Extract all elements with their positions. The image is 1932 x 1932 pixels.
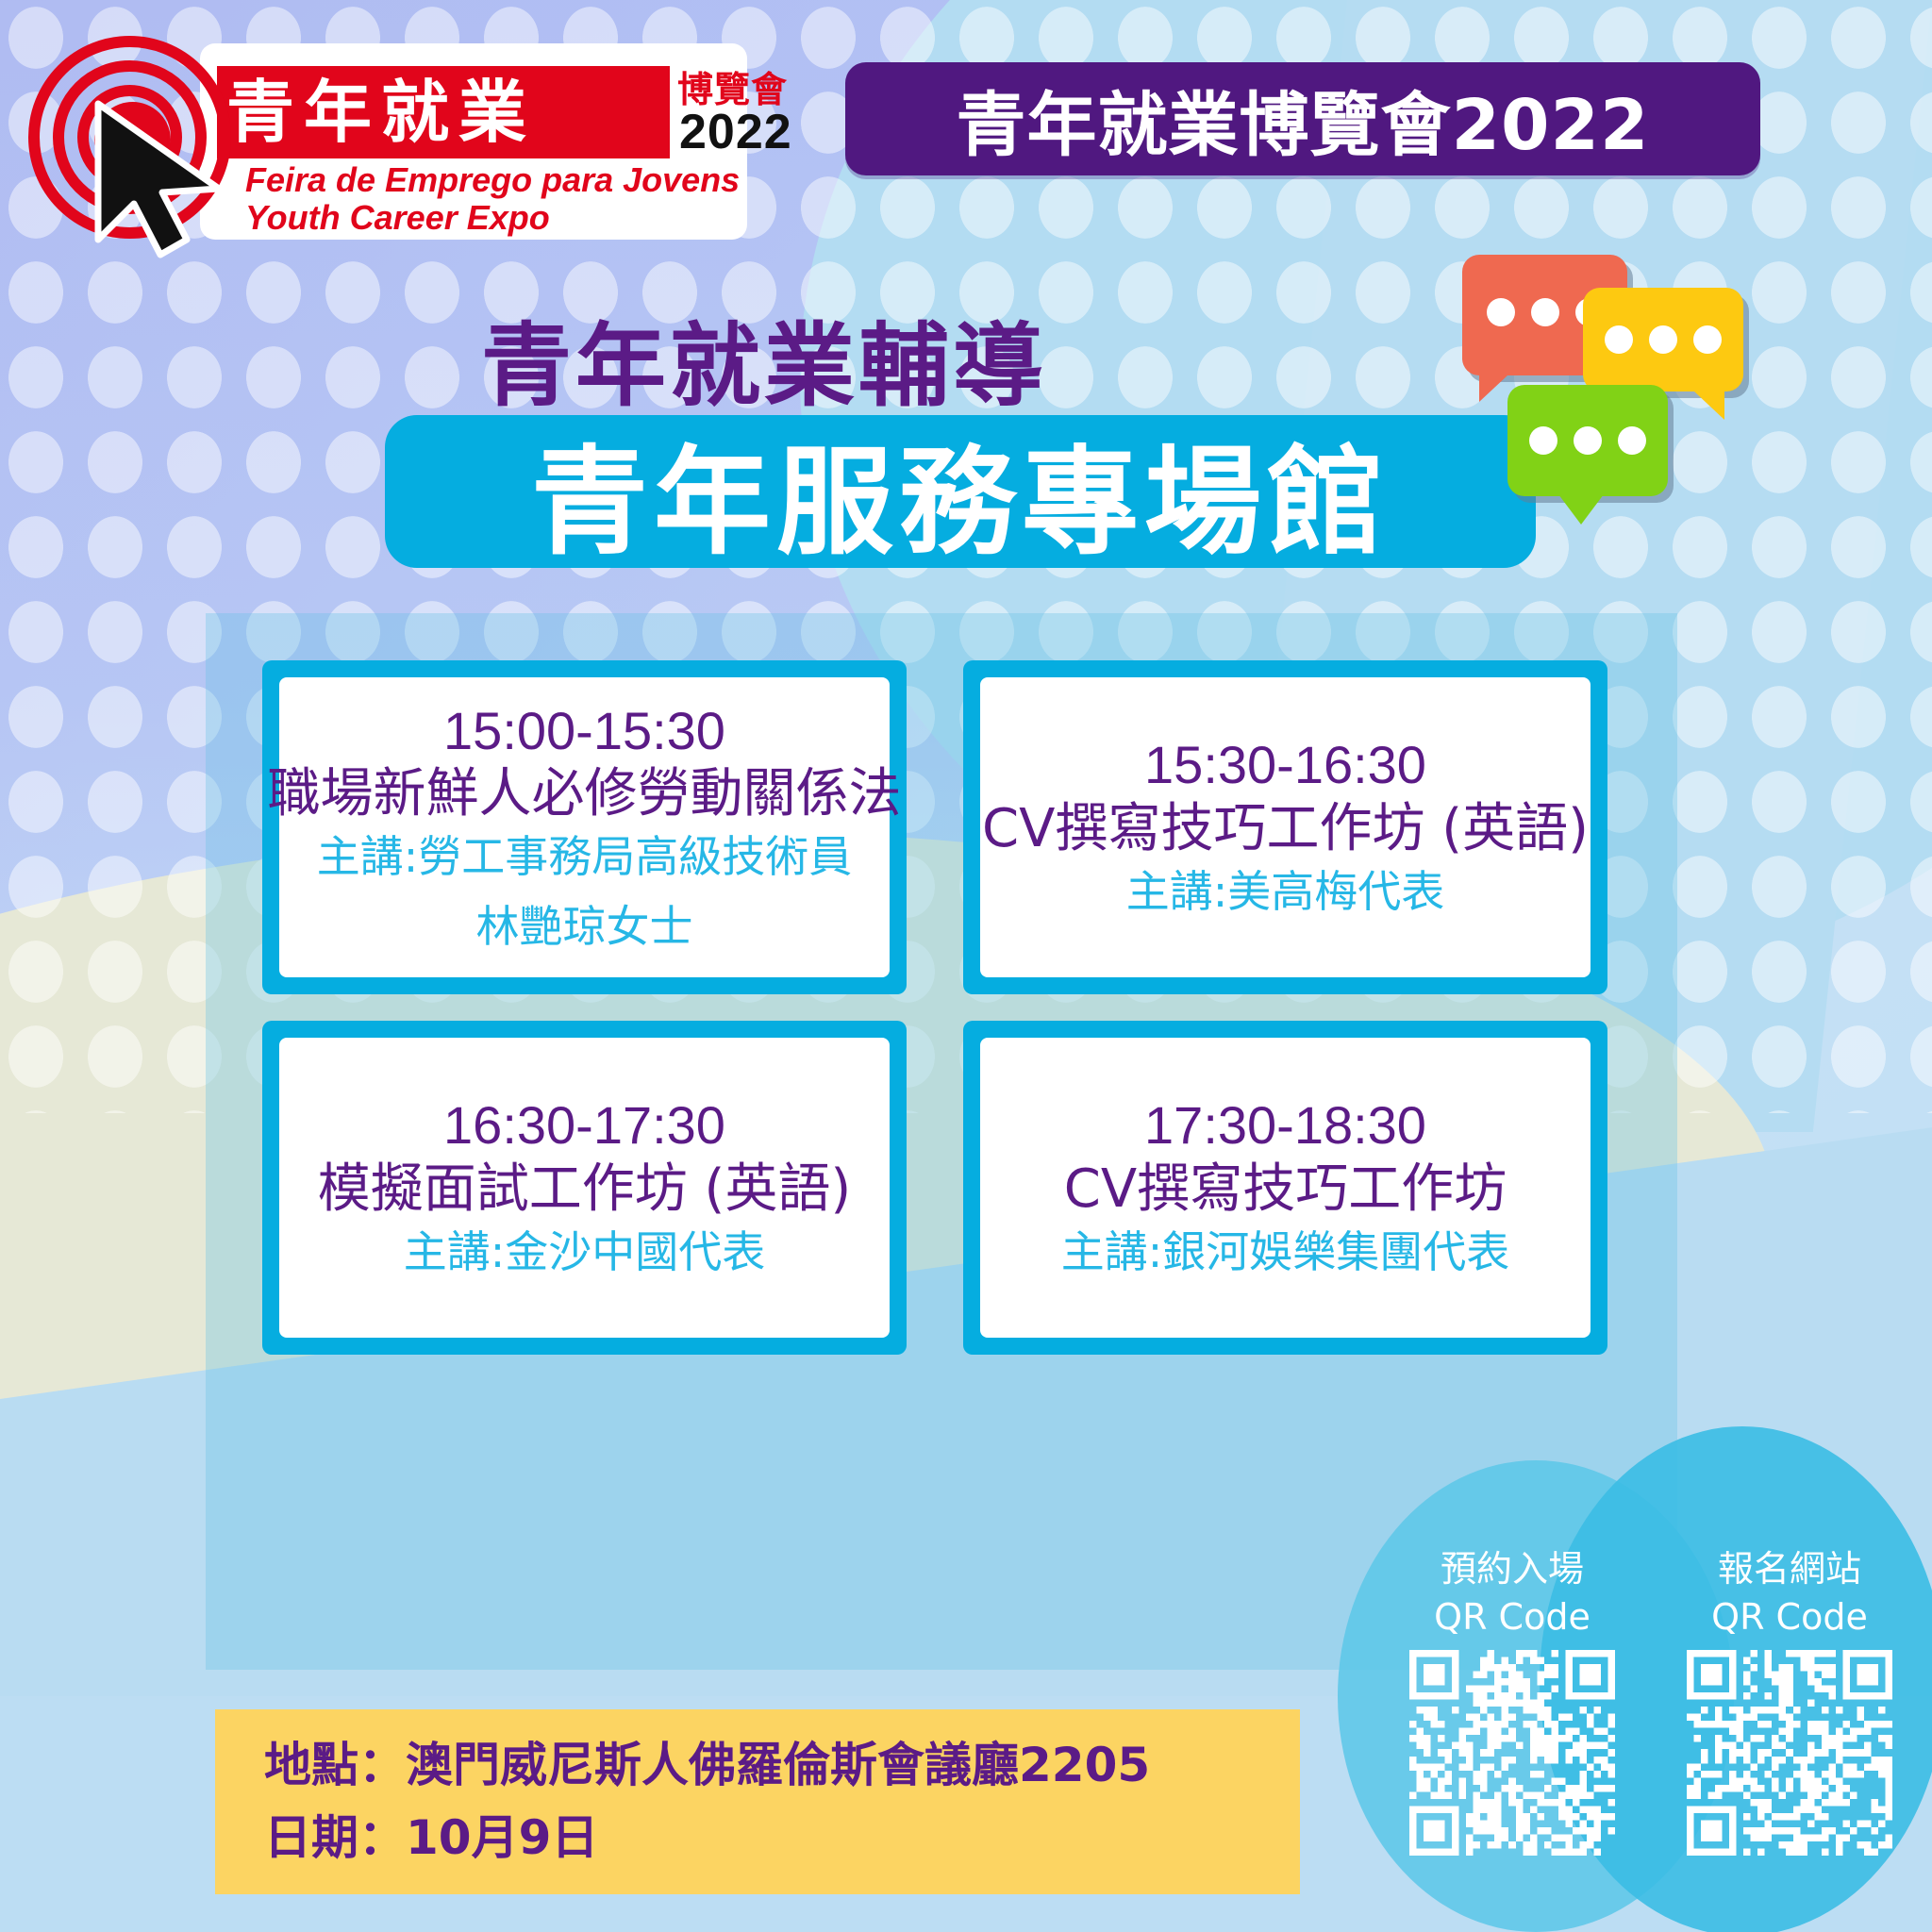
speech-bubble-yellow-icon	[1583, 288, 1743, 391]
session-time: 15:30-16:30	[1144, 734, 1426, 796]
session-time: 17:30-18:30	[1144, 1094, 1426, 1157]
event-title-badge-label: 青年就業博覽會2022	[957, 69, 1650, 170]
event-venue: 地點：澳門威尼斯人佛羅倫斯會議廳2205	[264, 1729, 1300, 1803]
session-card: 17:30-18:30 CV撰寫技巧工作坊 主講:銀河娛樂集團代表	[963, 1021, 1607, 1355]
session-title: CV撰寫技巧工作坊 (英語)	[982, 797, 1589, 860]
qr-code-booking-image[interactable]	[1409, 1650, 1615, 1856]
qr-label-line2: QR Code	[1434, 1593, 1591, 1641]
page-title-bar: 青年服務專場館	[385, 415, 1536, 568]
session-title: 模擬面試工作坊 (英語)	[318, 1158, 852, 1221]
logo-chinese-title: 青年就業	[226, 66, 660, 158]
session-grid: 15:00-15:30 職場新鮮人必修勞動關係法 主講:勞工事務局高級技術員 林…	[262, 660, 1607, 1355]
page-subtitle: 青年就業輔導	[0, 292, 1528, 424]
qr-block-booking[interactable]: 預約入場 QR Code	[1385, 1545, 1640, 1923]
session-card: 15:30-16:30 CV撰寫技巧工作坊 (英語) 主講:美高梅代表	[963, 660, 1607, 994]
session-speaker: 主講:美高梅代表	[1126, 864, 1445, 921]
session-time: 15:00-15:30	[443, 700, 725, 762]
session-speaker: 主講:銀河娛樂集團代表	[1061, 1224, 1510, 1281]
session-time: 16:30-17:30	[443, 1094, 725, 1157]
session-speaker: 主講:勞工事務局高級技術員	[317, 829, 853, 886]
event-date: 日期：10月9日	[264, 1802, 1300, 1875]
logo-expo-year: 2022	[679, 104, 792, 160]
logo-english-title: Youth Career Expo	[245, 198, 550, 238]
event-info-bar: 地點：澳門威尼斯人佛羅倫斯會議廳2205 日期：10月9日	[215, 1709, 1300, 1894]
qr-code-registration-image[interactable]	[1687, 1650, 1892, 1856]
qr-label-line1: 報名網站	[1718, 1545, 1861, 1593]
page-title: 青年服務專場館	[531, 407, 1390, 576]
speech-bubbles-group	[1434, 236, 1830, 528]
session-card: 15:00-15:30 職場新鮮人必修勞動關係法 主講:勞工事務局高級技術員 林…	[262, 660, 907, 994]
qr-label-line1: 預約入場	[1441, 1545, 1584, 1593]
event-logo: 青年就業 博覽會 2022 Feira de Emprego para Jove…	[11, 17, 757, 262]
qr-block-registration[interactable]: 報名網站 QR Code	[1662, 1545, 1917, 1923]
qr-label-line2: QR Code	[1711, 1593, 1868, 1641]
speech-bubble-green-icon	[1507, 385, 1668, 496]
session-card: 16:30-17:30 模擬面試工作坊 (英語) 主講:金沙中國代表	[262, 1021, 907, 1355]
session-title: CV撰寫技巧工作坊	[1064, 1158, 1507, 1221]
session-speaker-name: 林艷琼女士	[476, 899, 693, 956]
event-title-badge: 青年就業博覽會2022	[845, 62, 1760, 175]
qr-code-group: 預約入場 QR Code 報名網站 QR Code	[1385, 1545, 1923, 1923]
cursor-arrow-icon	[92, 98, 234, 258]
session-title: 職場新鮮人必修勞動關係法	[268, 762, 902, 825]
logo-portuguese-title: Feira de Emprego para Jovens	[245, 160, 740, 200]
poster-canvas: 青年就業 博覽會 2022 Feira de Emprego para Jove…	[0, 0, 1932, 1932]
session-speaker: 主講:金沙中國代表	[404, 1224, 766, 1281]
